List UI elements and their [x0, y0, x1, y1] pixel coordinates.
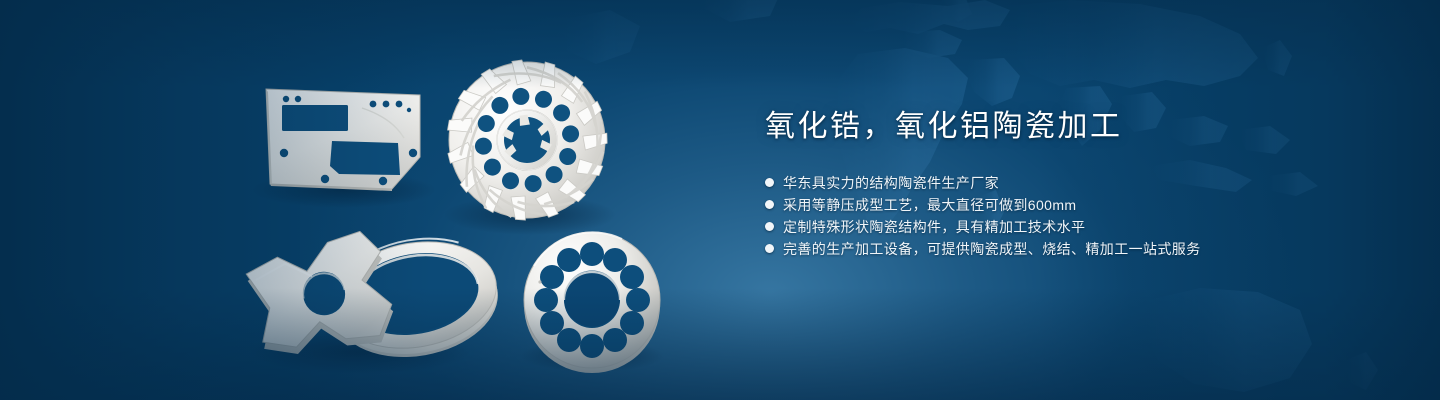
- list-item: 采用等静压成型工艺，最大直径可做到600mm: [765, 194, 1365, 216]
- list-item-label: 华东具实力的结构陶瓷件生产厂家: [783, 172, 999, 194]
- ceramic-products-image: [0, 0, 720, 400]
- promo-banner: 氧化锆，氧化铝陶瓷加工 华东具实力的结构陶瓷件生产厂家 采用等静压成型工艺，最大…: [0, 0, 1440, 400]
- bullet-dot-icon: [765, 222, 774, 231]
- list-item: 完善的生产加工设备，可提供陶瓷成型、烧结、精加工一站式服务: [765, 238, 1365, 260]
- bullet-dot-icon: [765, 178, 774, 187]
- ceramic-plate-with-cutouts: [266, 89, 420, 191]
- bullet-dot-icon: [765, 244, 774, 253]
- banner-feature-list: 华东具实力的结构陶瓷件生产厂家 采用等静压成型工艺，最大直径可做到600mm 定…: [765, 172, 1365, 260]
- banner-text-block: 氧化锆，氧化铝陶瓷加工 华东具实力的结构陶瓷件生产厂家 采用等静压成型工艺，最大…: [765, 108, 1365, 276]
- ceramic-perforated-disc: [524, 232, 660, 373]
- list-item-label: 采用等静压成型工艺，最大直径可做到600mm: [783, 194, 1076, 216]
- banner-title: 氧化锆，氧化铝陶瓷加工: [765, 108, 1365, 146]
- list-item: 华东具实力的结构陶瓷件生产厂家: [765, 172, 1365, 194]
- bullet-dot-icon: [765, 200, 774, 209]
- list-item-label: 完善的生产加工设备，可提供陶瓷成型、烧结、精加工一站式服务: [783, 238, 1201, 260]
- list-item-label: 定制特殊形状陶瓷结构件，具有精加工技术水平: [783, 216, 1085, 238]
- list-item: 定制特殊形状陶瓷结构件，具有精加工技术水平: [765, 216, 1365, 238]
